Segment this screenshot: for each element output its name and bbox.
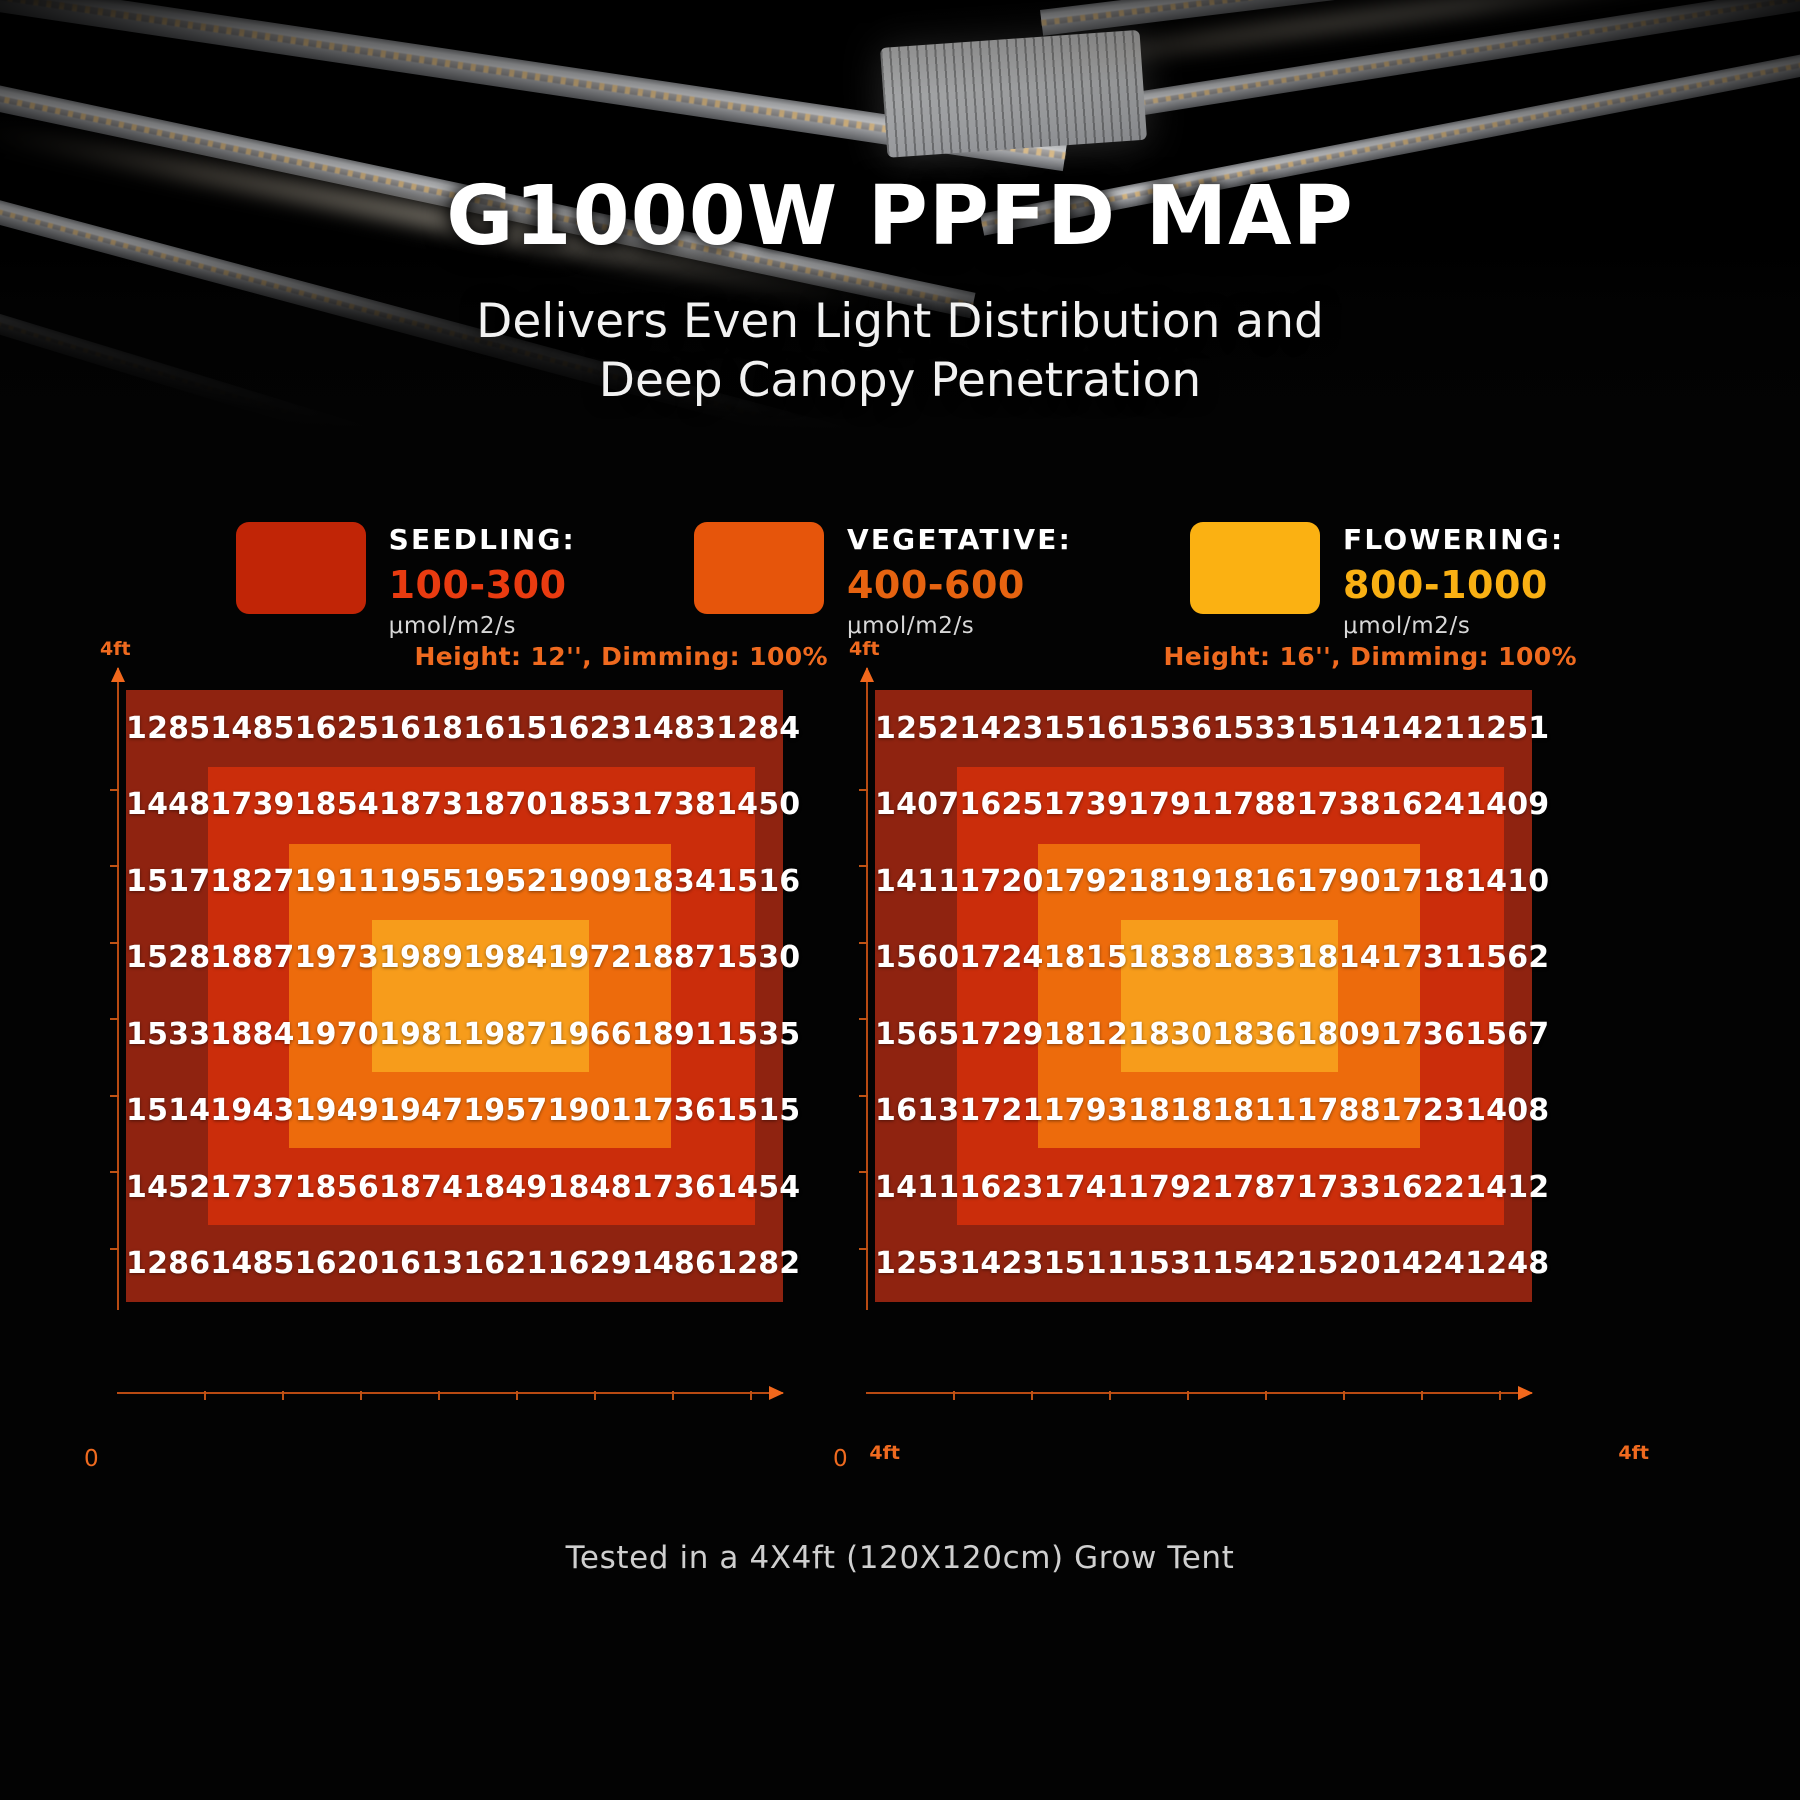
y-axis-tick [110,1248,119,1250]
legend-unit: μmol/m2/s [1343,615,1564,638]
ppfd-maps: Height: 12'', Dimming: 100% 4ft 0 4ft 12… [0,690,1800,1450]
heatmap-cell: 1511 [1044,1226,1128,1303]
heatmap-cell: 1622 [1381,1149,1465,1226]
heatmap-cell: 1884 [210,996,294,1073]
x-axis [866,1392,1532,1394]
heatmap-cell: 1811 [1212,1073,1296,1150]
y-axis-tick [110,1095,119,1097]
heatmap-cell: 1733 [1296,1149,1380,1226]
heatmap-cell: 1251 [1465,690,1549,767]
heatmap-cell: 1854 [295,767,379,844]
heatmap-cell: 1448 [126,767,210,844]
heatmap-cell: 1530 [716,920,800,997]
heatmap-cell: 1410 [1465,843,1549,920]
heatmap-cell: 1562 [1465,920,1549,997]
x-axis-tick [1421,1391,1423,1400]
heatmap-cell: 1412 [1465,1149,1549,1226]
heatmap-cell: 1450 [716,767,800,844]
heatmap-cell: 1911 [295,843,379,920]
heatmap-cell: 1625 [959,767,1043,844]
legend-text-block: FLOWERING:800-1000μmol/m2/s [1343,522,1564,638]
heatmap-cell: 1533 [126,996,210,1073]
legend-stage-name: VEGETATIVE: [847,526,1072,554]
page-subtitle: Delivers Even Light Distribution and Dee… [0,292,1800,410]
heatmap-cell: 1618 [379,690,463,767]
x-axis-tick [1265,1391,1267,1400]
y-axis-tick [110,1018,119,1020]
x-axis-tick [1343,1391,1345,1400]
heatmap-cell: 1741 [1044,1149,1128,1226]
heatmap-cell: 1834 [632,843,716,920]
heatmap-cell: 1486 [632,1226,716,1303]
map-caption: Height: 16'', Dimming: 100% [1163,642,1577,671]
heatmap-cell: 1738 [1296,767,1380,844]
y-axis-tick [110,1171,119,1173]
legend-stage-name: FLOWERING: [1343,526,1564,554]
heatmap-cell: 1955 [379,843,463,920]
heatmap-cell: 1514 [126,1073,210,1150]
heatmap-cell: 1423 [959,690,1043,767]
heatmap-cell: 1253 [875,1226,959,1303]
x-axis-tick [1109,1391,1111,1400]
x-axis-label: 4ft [1618,1442,1649,1464]
ppfd-legend: SEEDLING:100-300μmol/m2/sVEGETATIVE:400-… [0,522,1800,638]
heatmap-cell: 1542 [1212,1226,1296,1303]
heatmap-cells: 1252142315161536153315141421125114071625… [875,690,1532,1302]
page-title: G1000W PPFD MAP [0,176,1800,258]
map-caption: Height: 12'', Dimming: 100% [414,642,828,671]
heatmap-cell: 1827 [210,843,294,920]
legend-unit: μmol/m2/s [847,615,1072,638]
heatmap-cell: 1483 [632,690,716,767]
heatmap-cell: 1987 [463,996,547,1073]
heatmap-cell: 1943 [210,1073,294,1150]
x-axis-tick [1187,1391,1189,1400]
heatmap-cell: 1815 [1044,920,1128,997]
y-axis-tick [859,1018,868,1020]
legend-text-block: SEEDLING:100-300μmol/m2/s [389,522,576,638]
heatmap-cell: 1790 [1296,843,1380,920]
heatmap-cell: 1873 [379,767,463,844]
heatmap-cell: 1901 [547,1073,631,1150]
heatmap-cell: 1623 [959,1149,1043,1226]
heatmap-cell: 1830 [1128,996,1212,1073]
heatmap-cell: 1818 [1128,1073,1212,1150]
heatmap-cell: 1949 [295,1073,379,1150]
heatmap-cell: 1285 [126,690,210,767]
y-axis-tick [859,1171,868,1173]
heatmap-cell: 1788 [1212,767,1296,844]
heatmap-cell: 1838 [1128,920,1212,997]
heatmap-cell: 1739 [1044,767,1128,844]
heatmap-cell: 1613 [875,1073,959,1150]
heatmap-cell: 1520 [1296,1226,1380,1303]
heatmap-cell: 1284 [716,690,800,767]
y-axis-label: 4ft [849,638,880,660]
heatmap-cell: 1516 [716,843,800,920]
legend-color-swatch [236,522,366,614]
heatmap-cell: 1812 [1044,996,1128,1073]
heatmap-cell: 1516 [1044,690,1128,767]
heatmap-cell: 1407 [875,767,959,844]
heatmap-cell: 1887 [632,920,716,997]
footer-note: Tested in a 4X4ft (120X120cm) Grow Tent [0,1540,1800,1576]
heatmap-cell: 1856 [295,1149,379,1226]
y-axis-tick [110,789,119,791]
x-axis-tick [360,1391,362,1400]
heatmap-cell: 1720 [959,843,1043,920]
heatmap-cell: 1615 [463,690,547,767]
heatmap-cell: 1973 [295,920,379,997]
heatmap-cell: 1957 [463,1073,547,1150]
heatmap-cell: 1514 [1296,690,1380,767]
heatmap-cell: 1282 [716,1226,800,1303]
x-axis-tick [750,1391,752,1400]
heatmap-cell: 1567 [1465,996,1549,1073]
heatmap-cell: 1972 [547,920,631,997]
heatmap-cell: 1629 [547,1226,631,1303]
heatmap-grid: 1285148516251618161516231483128414481739… [126,690,783,1302]
x-axis-tick [516,1391,518,1400]
heatmap-cell: 1718 [1381,843,1465,920]
y-axis [117,668,119,1310]
heatmap-cell: 1623 [547,690,631,767]
heatmap-cell: 1252 [875,690,959,767]
heatmap-cell: 1409 [1465,767,1549,844]
y-axis-tick [859,1095,868,1097]
heatmap-cell: 1809 [1296,996,1380,1073]
heatmap-cell: 1411 [875,843,959,920]
heatmap-cell: 1621 [463,1226,547,1303]
heatmap-cell: 1984 [463,920,547,997]
legend-text-block: VEGETATIVE:400-600μmol/m2/s [847,522,1072,638]
heatmap-cell: 1560 [875,920,959,997]
axis-origin-label: 0 [833,1446,848,1472]
heatmap-cell: 1731 [1381,920,1465,997]
heatmap-cell: 1791 [1128,767,1212,844]
heatmap-cell: 1819 [1128,843,1212,920]
y-axis-tick [110,865,119,867]
y-axis-tick [859,865,868,867]
heatmap-cell: 1248 [1465,1226,1549,1303]
heatmap-cell: 1981 [379,996,463,1073]
heatmap-cell: 1989 [379,920,463,997]
heatmap-cell: 1485 [210,690,294,767]
heatmap-cell: 1788 [1296,1073,1380,1150]
heatmap-cell: 1724 [959,920,1043,997]
x-axis-tick [282,1391,284,1400]
x-axis-tick [953,1391,955,1400]
heatmap-cell: 1887 [210,920,294,997]
heatmap-cell: 1452 [126,1149,210,1226]
heatmap-cell: 1536 [1128,690,1212,767]
heatmap-cell: 1966 [547,996,631,1073]
heatmap-cell: 1625 [295,690,379,767]
page-subtitle-line-1: Delivers Even Light Distribution and [0,292,1800,351]
heatmap-cell: 1485 [210,1226,294,1303]
heatmap-cell: 1814 [1296,920,1380,997]
heatmap-cells: 1285148516251618161516231483128414481739… [126,690,783,1302]
heatmap-cell: 1454 [716,1149,800,1226]
heatmap-cell: 1620 [295,1226,379,1303]
heatmap-cell: 1613 [379,1226,463,1303]
legend-ppfd-range: 400-600 [847,566,1072,604]
heatmap-grid: 1252142315161536153315141421125114071625… [875,690,1532,1302]
ppfd-map-12in: Height: 12'', Dimming: 100% 4ft 0 4ft 12… [96,690,856,1450]
heatmap-cell: 1517 [126,843,210,920]
heatmap-cell: 1515 [716,1073,800,1150]
legend-stage-name: SEEDLING: [389,526,576,554]
heatmap-cell: 1787 [1212,1149,1296,1226]
x-axis-tick [438,1391,440,1400]
heatmap-cell: 1952 [463,843,547,920]
heatmap-cell: 1833 [1212,920,1296,997]
y-axis-tick [859,789,868,791]
legend-item: VEGETATIVE:400-600μmol/m2/s [694,522,1072,638]
heatmap-cell: 1737 [210,1149,294,1226]
heatmap-cell: 1836 [1212,996,1296,1073]
heatmap-cell: 1739 [210,767,294,844]
page-subtitle-line-2: Deep Canopy Penetration [0,351,1800,410]
legend-color-swatch [1190,522,1320,614]
heatmap-cell: 1624 [1381,767,1465,844]
heatmap-cell: 1533 [1212,690,1296,767]
legend-color-swatch [694,522,824,614]
heatmap-cell: 1528 [126,920,210,997]
heatmap-cell: 1874 [379,1149,463,1226]
x-axis-tick [1499,1391,1501,1400]
heatmap-cell: 1909 [547,843,631,920]
legend-ppfd-range: 800-1000 [1343,566,1564,604]
heatmap-cell: 1891 [632,996,716,1073]
y-axis-tick [859,1248,868,1250]
heatmap-cell: 1723 [1381,1073,1465,1150]
heatmap-cell: 1565 [875,996,959,1073]
legend-item: SEEDLING:100-300μmol/m2/s [236,522,576,638]
heatmap-cell: 1848 [547,1149,631,1226]
heatmap-cell: 1535 [716,996,800,1073]
heatmap-cell: 1816 [1212,843,1296,920]
y-axis-label: 4ft [100,638,131,660]
legend-item: FLOWERING:800-1000μmol/m2/s [1190,522,1564,638]
y-axis-tick [110,942,119,944]
heatmap-cell: 1793 [1044,1073,1128,1150]
heatmap-cell: 1721 [959,1073,1043,1150]
heatmap-cell: 1423 [959,1226,1043,1303]
heatmap-cell: 1870 [463,767,547,844]
heatmap-cell: 1531 [1128,1226,1212,1303]
heatmap-cell: 1736 [632,1149,716,1226]
x-axis-tick [204,1391,206,1400]
x-axis-tick [1031,1391,1033,1400]
y-axis [866,668,868,1310]
heatmap-cell: 1738 [632,767,716,844]
x-axis [117,1392,783,1394]
heatmap-cell: 1424 [1381,1226,1465,1303]
heatmap-cell: 1411 [875,1149,959,1226]
heatmap-cell: 1853 [547,767,631,844]
heatmap-cell: 1736 [632,1073,716,1150]
y-axis-tick [859,942,868,944]
x-axis-tick [594,1391,596,1400]
heatmap-cell: 1421 [1381,690,1465,767]
legend-ppfd-range: 100-300 [389,566,576,604]
ppfd-map-16in: Height: 16'', Dimming: 100% 4ft 0 4ft 12… [845,690,1605,1450]
heatmap-cell: 1736 [1381,996,1465,1073]
heatmap-cell: 1729 [959,996,1043,1073]
legend-unit: μmol/m2/s [389,615,576,638]
title-block: G1000W PPFD MAP Delivers Even Light Dist… [0,0,1800,410]
heatmap-cell: 1849 [463,1149,547,1226]
heatmap-cell: 1947 [379,1073,463,1150]
x-axis-tick [672,1391,674,1400]
heatmap-cell: 1408 [1465,1073,1549,1150]
axis-origin-label: 0 [84,1446,99,1472]
heatmap-cell: 1792 [1128,1149,1212,1226]
heatmap-cell: 1286 [126,1226,210,1303]
heatmap-cell: 1792 [1044,843,1128,920]
heatmap-cell: 1970 [295,996,379,1073]
